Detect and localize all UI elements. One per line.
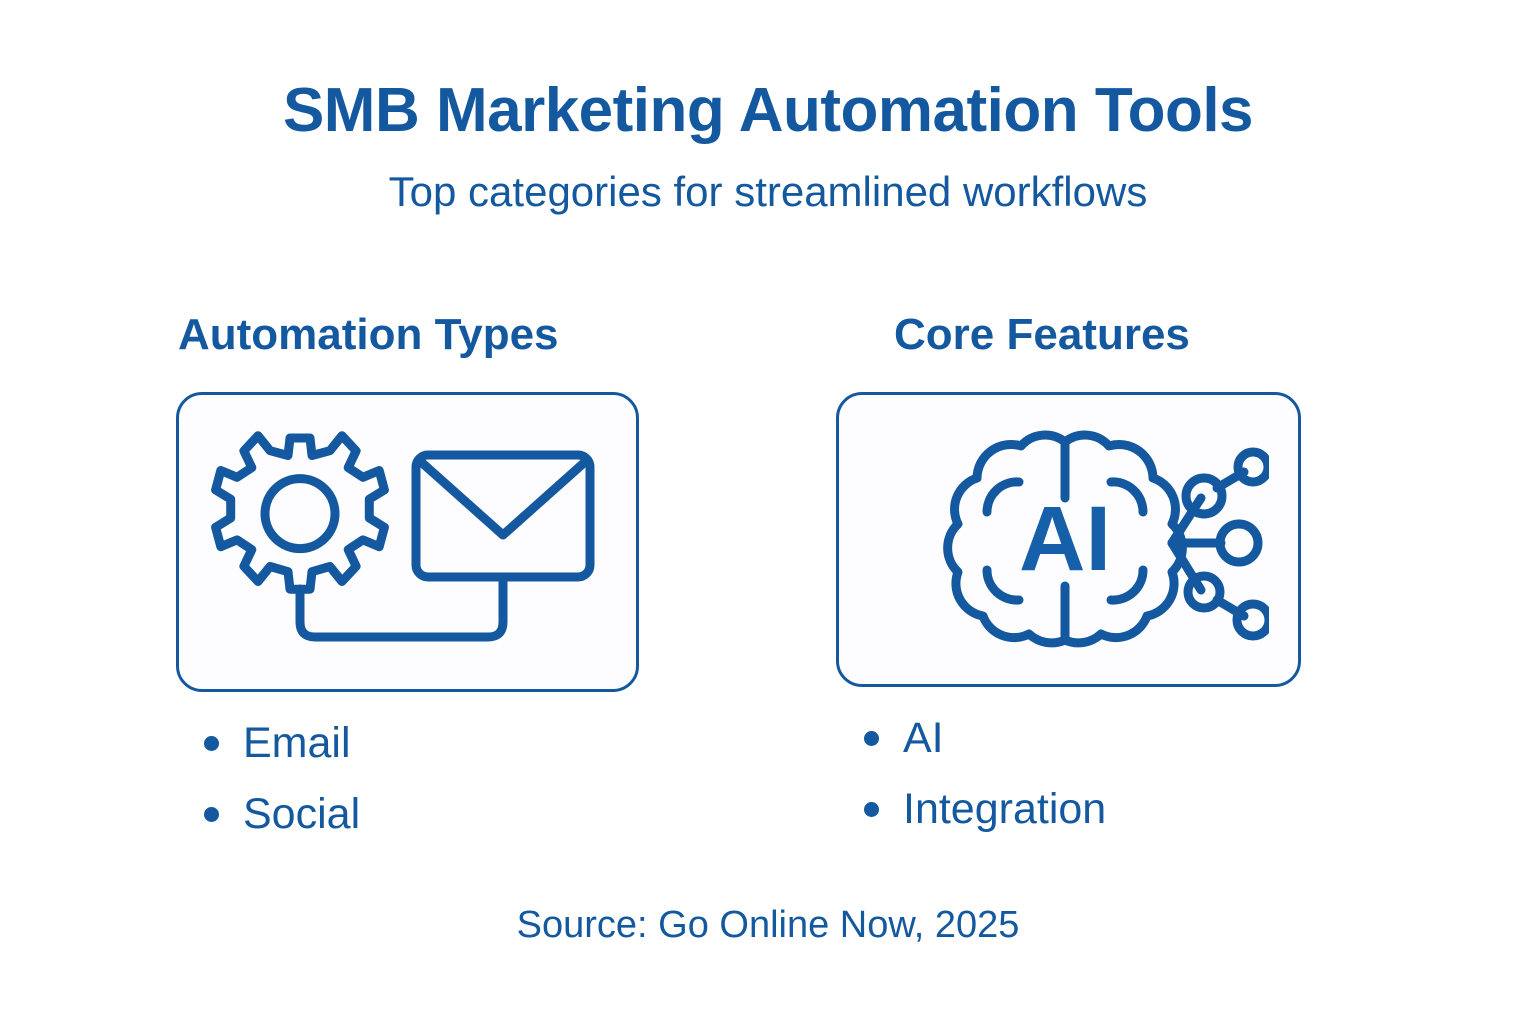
connector-line [300, 577, 503, 637]
column-heading-core-features: Core Features [836, 312, 1306, 358]
brain-fold-right-top [1111, 482, 1143, 512]
gear-icon [215, 436, 384, 590]
infographic-canvas: SMB Marketing Automation Tools Top categ… [0, 0, 1536, 1024]
automation-icon-group [208, 417, 608, 667]
bullet-dot-icon [864, 802, 879, 817]
network-node-upper-outer [1238, 452, 1268, 482]
list-item: Integration [836, 788, 1306, 831]
column-automation-types: Automation Types [176, 312, 646, 864]
brain-fold-left-top [986, 482, 1018, 512]
list-item: Email [176, 722, 646, 765]
gear-inner-circle [265, 479, 335, 549]
network-node-middle [1220, 524, 1258, 562]
bullet-list-automation-types: Email Social [176, 722, 646, 836]
column-core-features: Core Features AI [836, 312, 1306, 859]
core-features-icon-group: AI [869, 420, 1269, 660]
network-nodes-icon [1172, 452, 1269, 636]
bullet-dot-icon [864, 731, 879, 746]
columns-container: Automation Types [0, 312, 1536, 912]
bullet-label: Email [243, 722, 351, 765]
bullet-label: AI [903, 717, 944, 760]
page-title: SMB Marketing Automation Tools [0, 78, 1536, 143]
envelope-icon [416, 455, 590, 577]
envelope-flap [420, 461, 586, 535]
bullet-label: Social [243, 793, 360, 836]
bullet-dot-icon [204, 736, 219, 751]
list-item: Social [176, 793, 646, 836]
brain-fold-right-bottom [1111, 570, 1143, 600]
icon-card-core-features: AI [836, 392, 1301, 687]
ai-label: AI [1019, 488, 1111, 590]
source-attribution: Source: Go Online Now, 2025 [0, 905, 1536, 947]
column-heading-automation-types: Automation Types [176, 312, 646, 358]
page-subtitle: Top categories for streamlined workflows [0, 169, 1536, 215]
brain-fold-left-bottom [986, 570, 1018, 600]
header: SMB Marketing Automation Tools Top categ… [0, 78, 1536, 215]
bullet-list-core-features: AI Integration [836, 717, 1306, 831]
bullet-label: Integration [903, 788, 1106, 831]
network-node-lower-outer [1237, 604, 1269, 636]
bullet-dot-icon [204, 807, 219, 822]
list-item: AI [836, 717, 1306, 760]
icon-card-automation-types [176, 392, 639, 692]
footer: Source: Go Online Now, 2025 [0, 905, 1536, 947]
